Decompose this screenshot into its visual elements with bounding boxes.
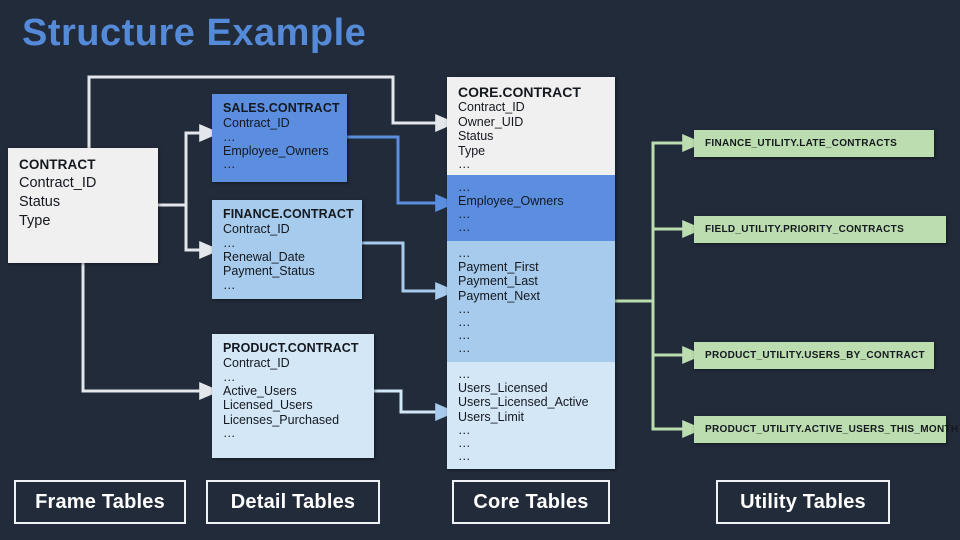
table-name: SALES.CONTRACT: [223, 101, 337, 115]
legend-label: Core Tables: [473, 491, 588, 514]
table-field-ellipsis: …: [458, 208, 605, 221]
table-field: Status: [19, 193, 148, 212]
table-field-ellipsis: …: [223, 279, 352, 292]
wire-contract-to-product: [83, 263, 201, 391]
table-field-ellipsis: …: [223, 371, 364, 384]
legend-frame-tables: Frame Tables: [14, 480, 186, 524]
table-field-ellipsis: …: [223, 131, 337, 144]
table-field: Licenses_Purchased: [223, 413, 364, 427]
table-field: Contract_ID: [458, 100, 605, 114]
utility-table-label: FIELD_UTILITY.PRIORITY_CONTRACTS: [705, 224, 904, 235]
table-field: Contract_ID: [19, 174, 148, 193]
legend-label: Frame Tables: [35, 491, 165, 514]
wire-utility-branch-3: [653, 301, 684, 429]
table-field-ellipsis: …: [458, 303, 605, 316]
table-card-product-contract[interactable]: PRODUCT.CONTRACT Contract_ID … Active_Us…: [212, 334, 374, 458]
core-segment-product: … Users_Licensed Users_Licensed_Active U…: [447, 362, 615, 469]
table-name: PRODUCT.CONTRACT: [223, 341, 364, 355]
wire-contract-to-finance: [158, 205, 201, 250]
wire-utility-branch-1: [653, 229, 684, 301]
table-field-ellipsis: …: [458, 368, 605, 381]
utility-table-priority-contracts[interactable]: FIELD_UTILITY.PRIORITY_CONTRACTS: [694, 216, 946, 243]
table-field: Type: [19, 212, 148, 231]
utility-table-label: PRODUCT_UTILITY.ACTIVE_USERS_THIS_MONTH: [705, 424, 958, 435]
utility-table-label: PRODUCT_UTILITY.USERS_BY_CONTRACT: [705, 350, 925, 361]
table-field: Renewal_Date: [223, 250, 352, 264]
table-field-ellipsis: …: [458, 450, 605, 463]
diagram-canvas: Structure Example: [0, 0, 960, 540]
table-field-ellipsis: …: [458, 424, 605, 437]
table-field: Owner_UID: [458, 115, 605, 129]
table-card-finance-contract[interactable]: FINANCE.CONTRACT Contract_ID … Renewal_D…: [212, 200, 362, 299]
table-field: Users_Licensed: [458, 381, 605, 395]
table-field-ellipsis: …: [458, 247, 605, 260]
wire-contract-to-sales: [158, 133, 201, 205]
utility-table-active-users-this-month[interactable]: PRODUCT_UTILITY.ACTIVE_USERS_THIS_MONTH: [694, 416, 946, 443]
wire-product-to-core: [374, 391, 437, 412]
table-field: Contract_ID: [223, 356, 364, 370]
table-field: Employee_Owners: [458, 194, 605, 208]
table-field: Users_Licensed_Active: [458, 395, 605, 409]
utility-table-late-contracts[interactable]: FINANCE_UTILITY.LATE_CONTRACTS: [694, 130, 934, 157]
table-field-ellipsis: …: [223, 237, 352, 250]
utility-table-label: FINANCE_UTILITY.LATE_CONTRACTS: [705, 138, 897, 149]
table-field-ellipsis: …: [223, 158, 337, 171]
table-field: Status: [458, 129, 605, 143]
table-name: CORE.CONTRACT: [458, 85, 605, 99]
table-field: Type: [458, 144, 605, 158]
table-field: Users_Limit: [458, 410, 605, 424]
table-field-ellipsis: …: [458, 437, 605, 450]
table-field: Payment_Next: [458, 289, 605, 303]
core-segment-sales: … Employee_Owners … …: [447, 175, 615, 241]
wire-core-to-utility-trunk: [615, 143, 684, 301]
table-field-ellipsis: …: [223, 427, 364, 440]
table-card-contract[interactable]: CONTRACT Contract_ID Status Type: [8, 148, 158, 263]
wire-sales-to-core: [347, 137, 437, 203]
table-field-ellipsis: …: [458, 221, 605, 234]
legend-label: Utility Tables: [740, 491, 866, 514]
table-field: Licensed_Users: [223, 398, 364, 412]
table-field: Contract_ID: [223, 222, 352, 236]
table-name: FINANCE.CONTRACT: [223, 207, 352, 221]
table-field-ellipsis: …: [458, 342, 605, 355]
legend-utility-tables: Utility Tables: [716, 480, 890, 524]
table-field: Employee_Owners: [223, 144, 337, 158]
legend-core-tables: Core Tables: [452, 480, 610, 524]
table-field-ellipsis: …: [458, 316, 605, 329]
core-segment-identity: CORE.CONTRACT Contract_ID Owner_UID Stat…: [447, 77, 615, 175]
table-field: Contract_ID: [223, 116, 337, 130]
table-card-sales-contract[interactable]: SALES.CONTRACT Contract_ID … Employee_Ow…: [212, 94, 347, 182]
core-segment-finance: … Payment_First Payment_Last Payment_Nex…: [447, 241, 615, 362]
table-field: Payment_Last: [458, 274, 605, 288]
legend-label: Detail Tables: [231, 491, 356, 514]
table-name: CONTRACT: [19, 158, 148, 172]
table-field: Active_Users: [223, 384, 364, 398]
wire-finance-to-core: [362, 243, 437, 291]
utility-table-users-by-contract[interactable]: PRODUCT_UTILITY.USERS_BY_CONTRACT: [694, 342, 934, 369]
table-card-core-contract[interactable]: CORE.CONTRACT Contract_ID Owner_UID Stat…: [447, 77, 615, 469]
table-field-ellipsis: …: [458, 329, 605, 342]
table-field-ellipsis: …: [458, 158, 605, 171]
table-field-ellipsis: …: [458, 181, 605, 194]
legend-detail-tables: Detail Tables: [206, 480, 380, 524]
table-field: Payment_First: [458, 260, 605, 274]
table-field: Payment_Status: [223, 264, 352, 278]
wire-utility-branch-2: [653, 301, 684, 355]
